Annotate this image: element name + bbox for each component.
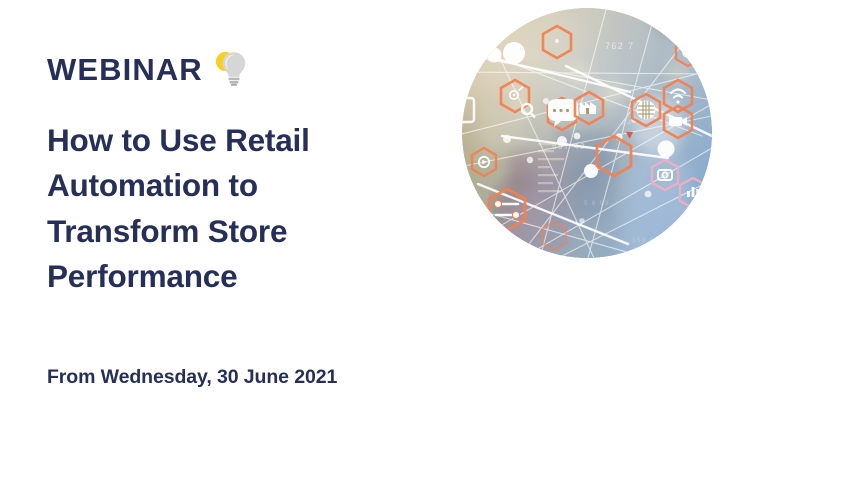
page-title: How to Use Retail Automation to Transfor… [47, 118, 377, 299]
hero-image-circle: 762 7 667 43 24 03 5 8 03 153 48 SE [462, 8, 712, 258]
text-column: WEBINAR How to Use Retail Automation to … [47, 0, 447, 492]
svg-text:SE: SE [655, 20, 670, 31]
event-date: From Wednesday, 30 June 2021 [47, 366, 337, 389]
webinar-promo-card: WEBINAR How to Use Retail Automation to … [0, 0, 854, 492]
eyebrow-row: WEBINAR [47, 52, 247, 86]
eyebrow-label: WEBINAR [47, 54, 203, 85]
hero-image-graphic: 762 7 667 43 24 03 5 8 03 153 48 SE [462, 8, 712, 258]
lightbulb-icon [213, 50, 247, 86]
